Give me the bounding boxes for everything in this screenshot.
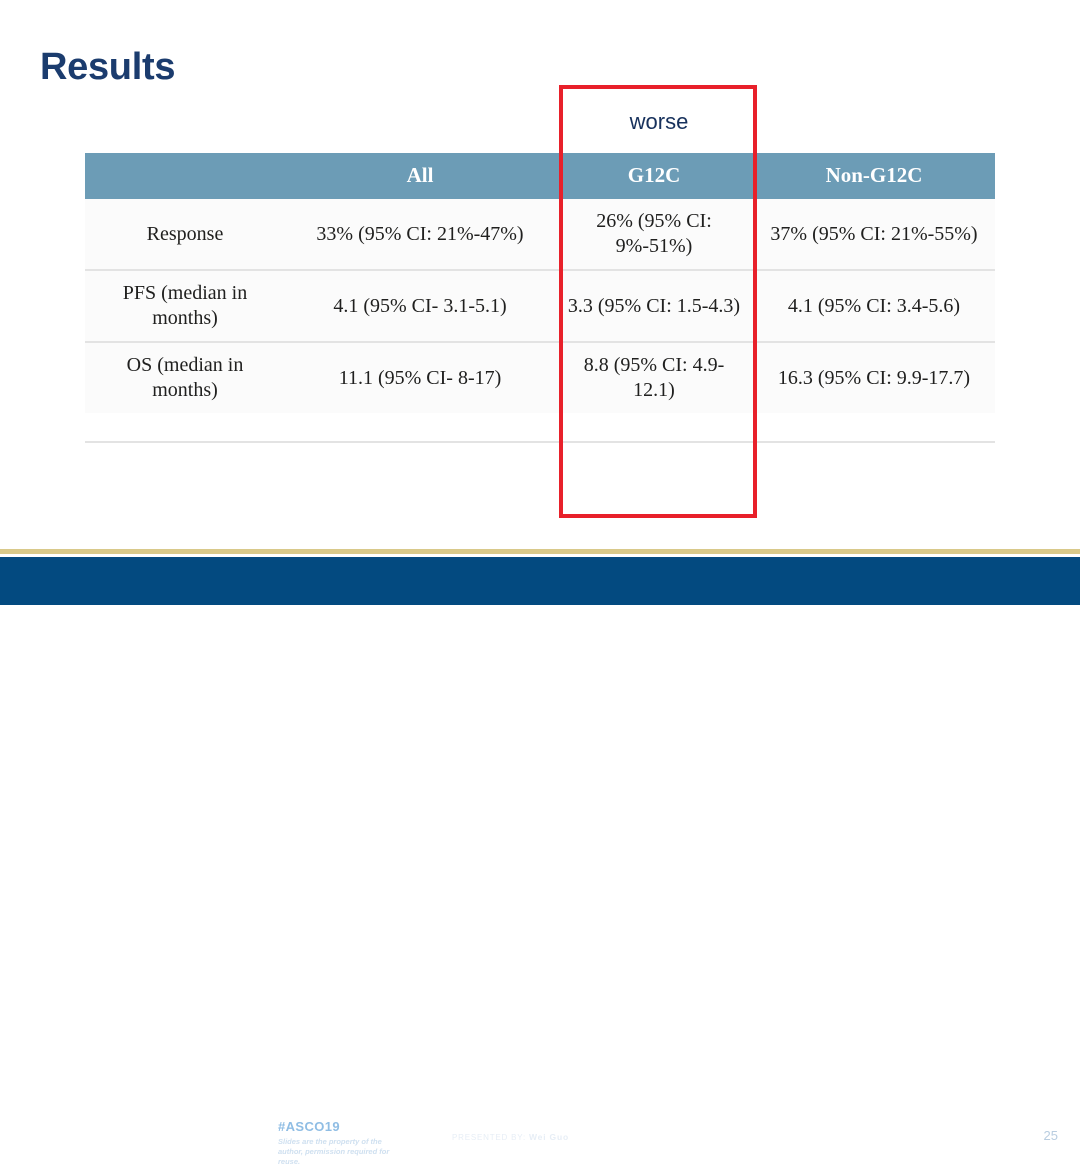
cell-os-g12c: 8.8 (95% CI: 4.9-12.1): [555, 342, 753, 413]
cell-response-all: 33% (95% CI: 21%-47%): [285, 199, 555, 270]
registered-trademark-icon: ®: [252, 1124, 258, 1133]
column-header-all: All: [285, 153, 555, 199]
reuse-disclaimer: Slides are the property of the author, p…: [278, 1137, 408, 1167]
worse-annotation-label: worse: [560, 110, 758, 134]
cell-os-all: 11.1 (95% CI- 8-17): [285, 342, 555, 413]
asco-logo-name: ASCO: [187, 1119, 253, 1144]
table-bottom-border: [85, 441, 995, 443]
row-label-response: Response: [85, 199, 285, 270]
column-header-g12c: G12C: [555, 153, 753, 199]
table-row: PFS (median in months) 4.1 (95% CI- 3.1-…: [85, 270, 995, 342]
page-title: Results: [40, 48, 175, 86]
conference-hashtag: #ASCO19: [278, 1120, 408, 1133]
table-row: OS (median in months) 11.1 (95% CI- 8-17…: [85, 342, 995, 413]
cell-os-non-g12c: 16.3 (95% CI: 9.9-17.7): [753, 342, 995, 413]
table-header-row: All G12C Non-G12C: [85, 153, 995, 199]
cell-pfs-non-g12c: 4.1 (95% CI: 3.4-5.6): [753, 270, 995, 342]
hashtag-block: #ASCO19 Slides are the property of the a…: [278, 1120, 408, 1167]
asco-logo-subtitle: ANNUAL MEETING: [148, 1146, 274, 1159]
results-table-container: All G12C Non-G12C Response 33% (95% CI: …: [85, 153, 995, 413]
cell-pfs-g12c: 3.3 (95% CI: 1.5-4.3): [555, 270, 753, 342]
row-label-pfs: PFS (median in months): [85, 270, 285, 342]
results-table: All G12C Non-G12C Response 33% (95% CI: …: [85, 153, 995, 413]
presented-by-label: PRESENTED BY:: [452, 1133, 526, 1142]
table-row: Response 33% (95% CI: 21%-47%) 26% (95% …: [85, 199, 995, 270]
column-header-non-g12c: Non-G12C: [753, 153, 995, 199]
footer-bar: 2019 ASCO® ANNUAL MEETING #ASCO19 Slides…: [0, 557, 1080, 605]
presenter-name: Wei Guo: [529, 1132, 569, 1142]
column-header-blank: [85, 153, 285, 199]
asco-logo-year: 2019: [148, 1124, 181, 1140]
page-number: 25: [1044, 1129, 1058, 1142]
cell-pfs-all: 4.1 (95% CI- 3.1-5.1): [285, 270, 555, 342]
cell-response-non-g12c: 37% (95% CI: 21%-55%): [753, 199, 995, 270]
presented-by: PRESENTED BY: Wei Guo: [452, 1133, 569, 1142]
slide-canvas: Results worse All G12C Non-G12C Respons: [0, 0, 1080, 605]
cell-response-g12c: 26% (95% CI: 9%-51%): [555, 199, 753, 270]
row-label-os: OS (median in months): [85, 342, 285, 413]
asco-logo: 2019 ASCO® ANNUAL MEETING: [148, 1121, 274, 1159]
